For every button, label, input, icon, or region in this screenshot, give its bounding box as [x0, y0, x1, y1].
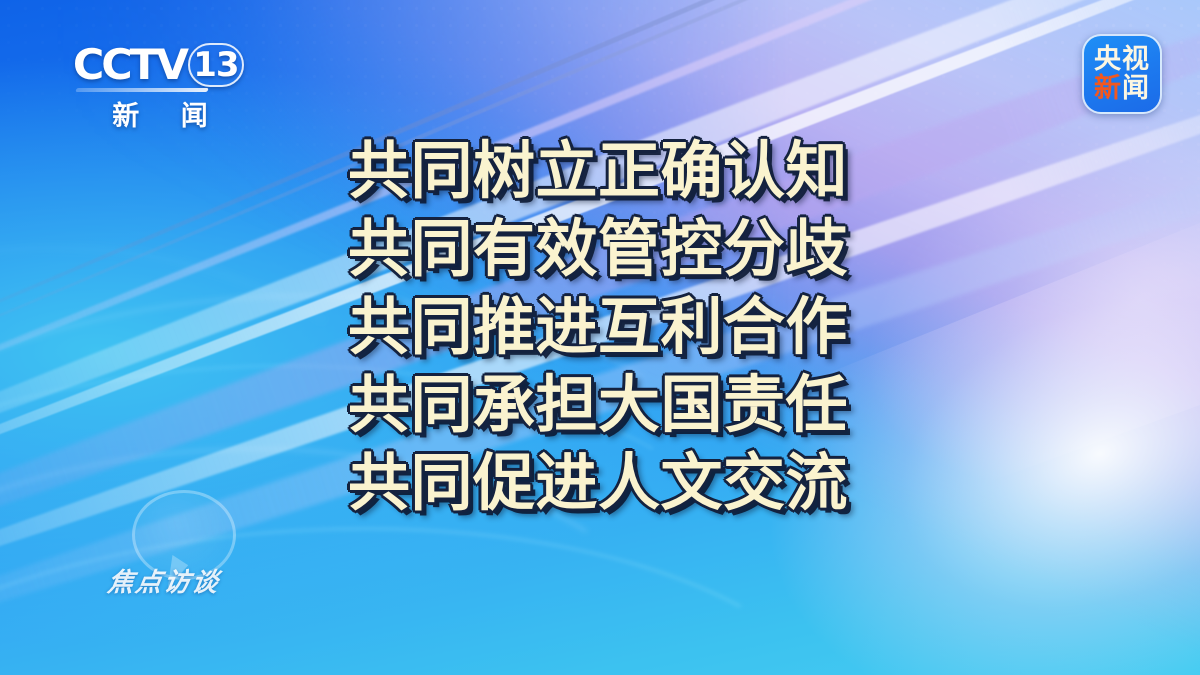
- broadcast-graphic-screen: CCTV 13 新 闻 央视 新 闻 共同树立正确认知 共同有效管控分歧 共同推…: [0, 0, 1200, 675]
- slogan-line-4: 共同承担大国责任: [348, 366, 868, 444]
- slogan-line-3: 共同推进互利合作: [348, 288, 868, 366]
- badge-char-xin: 新: [1094, 75, 1122, 103]
- cctv-channel-number-badge: 13: [188, 43, 244, 87]
- slogan-line-2: 共同有效管控分歧: [348, 210, 868, 288]
- cctv-logo-underline: [75, 88, 209, 92]
- slogan-text-block: 共同树立正确认知 共同有效管控分歧 共同推进互利合作 共同承担大国责任 共同促进…: [348, 132, 868, 522]
- slogan-line-1: 共同树立正确认知: [348, 132, 868, 210]
- cctv-logo-row: CCTV 13: [74, 42, 244, 88]
- badge-line-xinwen: 新 闻: [1094, 75, 1150, 103]
- badge-char-wen: 闻: [1122, 75, 1150, 103]
- cctv-channel-logo: CCTV 13 新 闻: [74, 42, 244, 126]
- cctv-channel-name: 新 闻: [90, 94, 230, 133]
- cctv-channel-number: 13: [188, 43, 244, 87]
- cctv-news-corner-badge: 央视 新 闻: [1082, 34, 1162, 114]
- slogan-line-5: 共同促进人文交流: [348, 444, 868, 522]
- badge-line-yangshi: 央视: [1094, 46, 1150, 74]
- cctv-network-name: CCTV: [73, 44, 186, 86]
